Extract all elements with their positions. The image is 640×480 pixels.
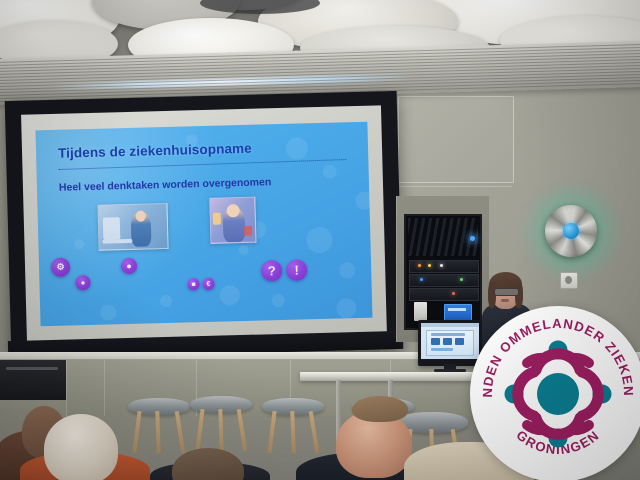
- projection-screen-frame: Tijdens de ziekenhuisopname Heel veel de…: [5, 91, 404, 359]
- monitor-icon: ■: [187, 278, 199, 290]
- cabinet-door: [66, 360, 106, 416]
- question-mark-icon: ?: [261, 260, 283, 282]
- slide-bubble: [322, 165, 336, 179]
- slide-divider: [58, 159, 346, 170]
- logo-center-circle: [537, 373, 579, 415]
- rack-cabling: [408, 218, 478, 256]
- slide-bubble: [74, 239, 84, 249]
- slide-bubble: [100, 304, 116, 320]
- audience-head-grey: [44, 414, 118, 480]
- slide-bubble: [339, 262, 355, 278]
- dark-appliance: [0, 360, 66, 400]
- exclamation-mark-icon: !: [286, 259, 308, 281]
- power-socket: [560, 272, 578, 289]
- organisation-logo-badge: VRIENDEN OMMELANDER ZIEKENHUIS GRONINGEN: [470, 306, 640, 480]
- slide-bubble: [355, 192, 372, 210]
- slide-photo-worker: [209, 197, 256, 244]
- rack-led: [420, 278, 423, 281]
- rack-led: [460, 278, 463, 281]
- presenter-mouth: [501, 299, 509, 302]
- audience-hair-tuft: [352, 396, 408, 422]
- slide-bubble: [286, 137, 309, 160]
- rack-led: [418, 264, 421, 267]
- slide-photo-nurse: [97, 203, 168, 251]
- slide-bubble: [239, 245, 249, 255]
- rack-led: [428, 264, 431, 267]
- rack-led: [452, 292, 455, 295]
- rack-led: [440, 264, 443, 267]
- slide-bubble: [160, 295, 172, 307]
- slide-bubble: [336, 298, 357, 319]
- monitor-window: [426, 330, 474, 356]
- wall-access-panel: [398, 96, 514, 183]
- fan-hub: [563, 223, 579, 239]
- slide-bubble: [272, 294, 285, 307]
- slide-bubble: [306, 227, 333, 254]
- gear-icon: ⚙: [51, 258, 70, 277]
- room-photo: Tijdens de ziekenhuisopname Heel veel de…: [0, 0, 640, 480]
- lightbulb-icon: ●: [75, 275, 90, 290]
- presentation-slide[interactable]: Tijdens de ziekenhuisopname Heel veel de…: [35, 122, 372, 327]
- slide-subtitle: Heel veel denktaken worden overgenomen: [59, 176, 272, 194]
- location-pin-icon: ●: [121, 258, 137, 274]
- rack-module-white: [414, 302, 427, 321]
- euro-icon: €: [202, 278, 214, 290]
- logo-svg: VRIENDEN OMMELANDER ZIEKENHUIS GRONINGEN: [470, 306, 640, 480]
- slide-title: Tijdens de ziekenhuisopname: [58, 141, 252, 161]
- slide-bubble: [220, 285, 241, 306]
- rack-display-panel: [444, 304, 472, 321]
- wall-fan-light-icon: [545, 205, 597, 257]
- rack-status-led: [470, 236, 475, 241]
- screen-mat: Tijdens de ziekenhuisopname Heel veel de…: [21, 105, 387, 342]
- glasses-icon: [494, 288, 519, 296]
- rack-unit: [409, 288, 479, 301]
